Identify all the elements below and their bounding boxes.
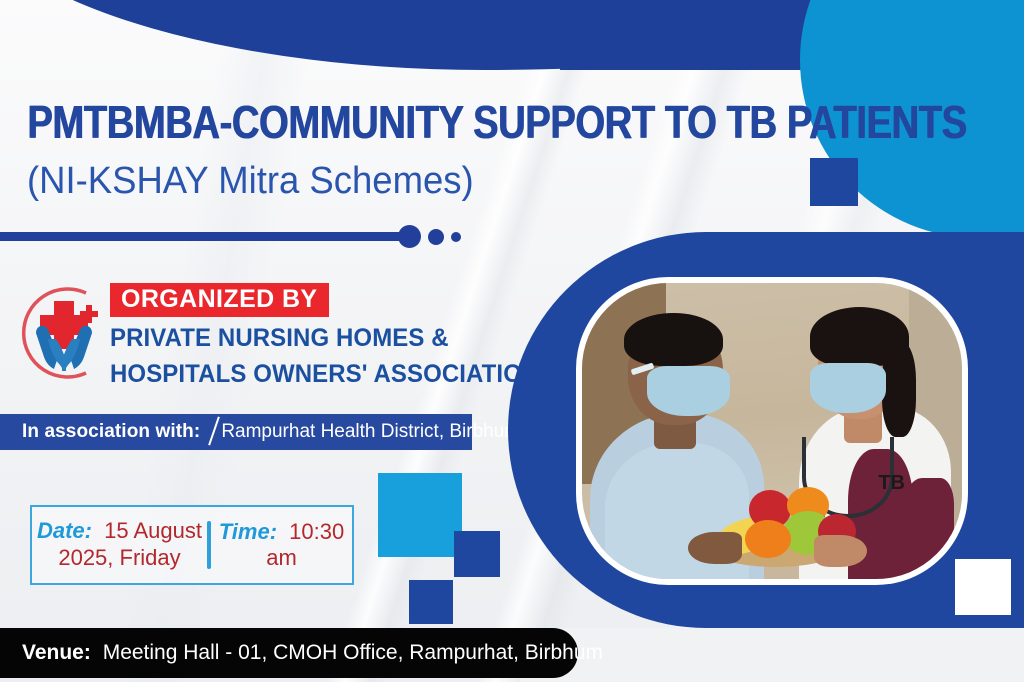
- time-group: Time: 10:30 am: [211, 519, 352, 571]
- date-group: Date: 15 August 2025, Friday: [32, 518, 207, 572]
- date-value-line-2: 2025, Friday: [58, 545, 180, 570]
- page-title: PMTBMBA-COMMUNITY SUPPORT TO TB PATIENTS: [27, 99, 966, 145]
- doctor-face-mask: [810, 363, 886, 413]
- venue-content: Venue: Meeting Hall - 01, CMOH Office, R…: [22, 641, 603, 665]
- association-content: In association with: Rampurhat Health Di…: [22, 418, 520, 446]
- date-time-box: Date: 15 August 2025, Friday Time: 10:30…: [30, 505, 354, 585]
- organizer-name-line-1: PRIVATE NURSING HOMES &: [110, 324, 449, 353]
- patient-hand: [688, 532, 741, 565]
- patient-face-mask: [647, 366, 731, 416]
- divider-dot-small: [451, 232, 461, 242]
- medical-cross-icon-large: [378, 473, 462, 557]
- divider-dot-large: [398, 225, 421, 248]
- doctor-arm: [901, 478, 954, 579]
- organized-by-badge: ORGANIZED BY: [110, 283, 329, 317]
- venue-value: Meeting Hall - 01, CMOH Office, Rampurha…: [103, 641, 603, 664]
- orange-fruit: [745, 520, 791, 558]
- patient-hair: [624, 313, 723, 366]
- photo-frame: TB: [576, 277, 968, 585]
- medical-cross-icon-small: [409, 580, 453, 624]
- slash-separator-icon: [207, 419, 220, 445]
- organizer-name-line-2: HOSPITALS OWNERS' ASSOCIATION: [110, 360, 539, 389]
- medical-cross-icon: [810, 158, 858, 206]
- association-value: Rampurhat Health District, Birbhum: [221, 421, 520, 443]
- medical-cross-icon-medium: [454, 531, 500, 577]
- divider-bar: [0, 232, 403, 241]
- coat-tb-label: TB: [878, 472, 905, 495]
- time-value: 10:30 am: [266, 519, 344, 570]
- date-value-line-1: 15 August: [104, 518, 202, 543]
- event-photo: TB: [582, 283, 962, 579]
- association-label: In association with:: [22, 421, 200, 443]
- page-subtitle: (NI-KSHAY Mitra Schemes): [27, 160, 474, 203]
- time-label: Time:: [219, 519, 277, 544]
- venue-label: Venue:: [22, 641, 91, 664]
- doctor-hand: [814, 535, 867, 568]
- medical-cross-icon-white: [955, 559, 1011, 615]
- organization-logo: [14, 281, 118, 385]
- date-label: Date:: [37, 518, 92, 543]
- poster-canvas: PMTBMBA-COMMUNITY SUPPORT TO TB PATIENTS…: [0, 0, 1024, 682]
- divider-dot-medium: [428, 229, 444, 245]
- venue-bar: Venue: Meeting Hall - 01, CMOH Office, R…: [0, 628, 578, 678]
- doctor-hair-side: [882, 342, 916, 437]
